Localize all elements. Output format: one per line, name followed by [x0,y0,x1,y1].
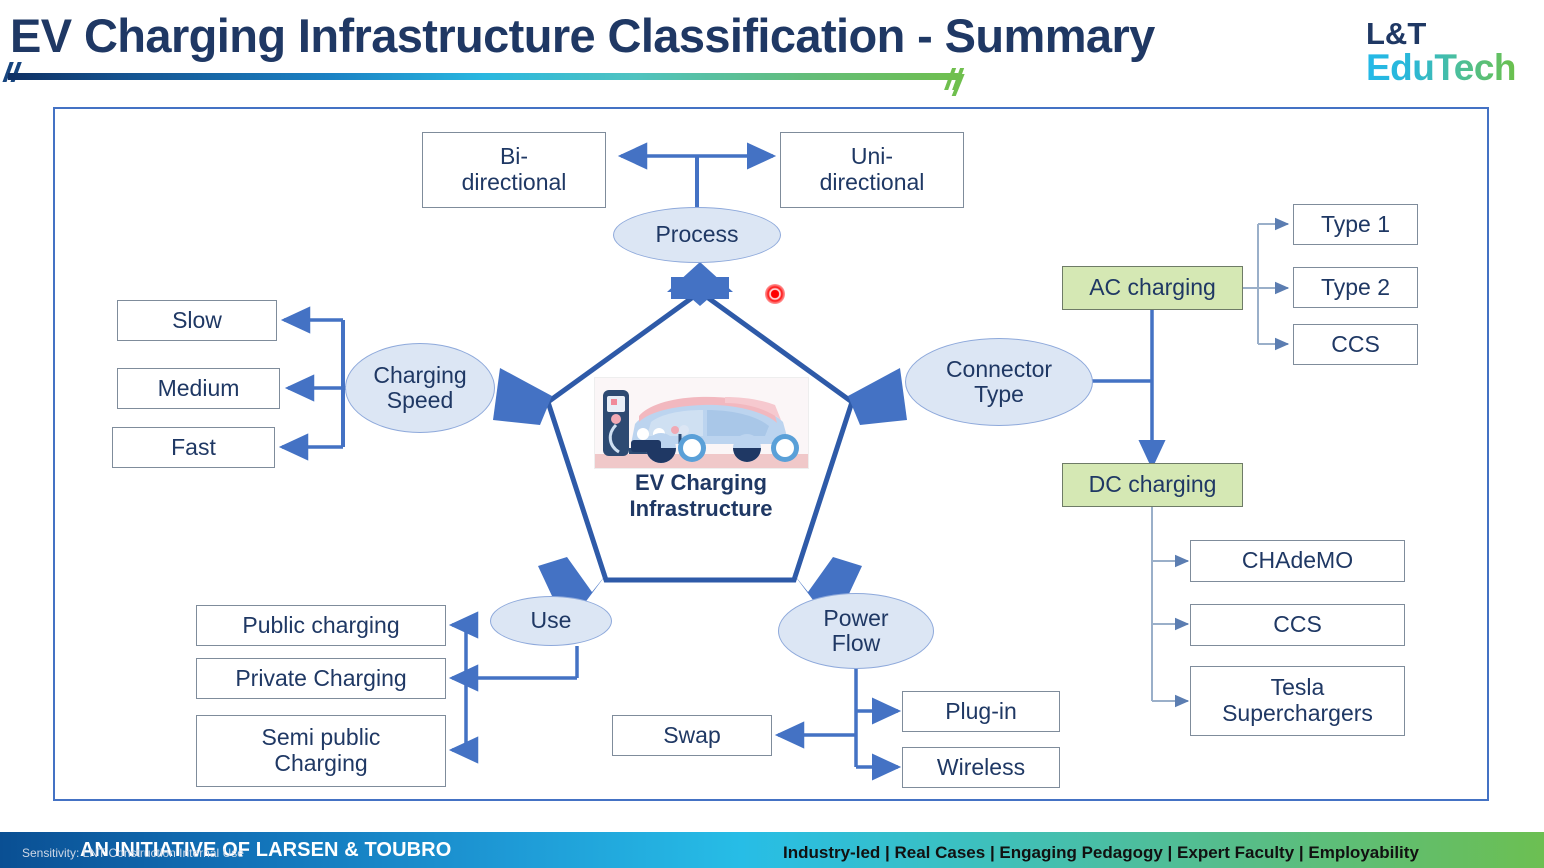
node-public-charging[interactable]: Public charging [196,605,446,646]
hub-power-flow-line1: Power [823,606,888,631]
cursor-pointer-icon [765,284,785,304]
hub-connector-type[interactable]: Connector Type [905,338,1093,426]
node-ac-charging-label: AC charging [1089,275,1216,301]
node-private-charging[interactable]: Private Charging [196,658,446,699]
node-bi-directional-line2: directional [462,170,567,196]
node-tesla-superchargers[interactable]: Tesla Superchargers [1190,666,1405,736]
hub-process-label: Process [655,222,738,247]
slide-canvas: EV Charging Infrastructure Classificatio… [0,0,1544,868]
node-uni-directional-line1: Uni- [851,144,893,170]
node-slow[interactable]: Slow [117,300,277,341]
sensitivity-label: Sensitivity: LNT Construction Internal U… [22,846,244,860]
hub-charging-speed-line1: Charging [373,363,466,388]
node-ccs-dc-label: CCS [1273,612,1322,638]
node-dc-charging-label: DC charging [1089,472,1217,498]
center-node-label: EV Charging Infrastructure [596,470,806,523]
page-title: EV Charging Infrastructure Classificatio… [10,8,1155,63]
hub-charging-speed[interactable]: Charging Speed [345,343,495,433]
node-plug-in[interactable]: Plug-in [902,691,1060,732]
hub-use-label: Use [531,608,572,633]
node-swap-label: Swap [663,723,721,749]
node-ac-charging[interactable]: AC charging [1062,266,1243,310]
node-wireless[interactable]: Wireless [902,747,1060,788]
node-type-1[interactable]: Type 1 [1293,204,1418,245]
node-plug-in-label: Plug-in [945,699,1017,725]
node-bi-directional[interactable]: Bi- directional [422,132,606,208]
hub-process[interactable]: Process [613,207,781,263]
node-swap[interactable]: Swap [612,715,772,756]
node-type-2[interactable]: Type 2 [1293,267,1418,308]
node-semi-public-charging[interactable]: Semi public Charging [196,715,446,787]
node-wireless-label: Wireless [937,755,1025,781]
node-tesla-line2: Superchargers [1222,701,1373,727]
node-tesla-line1: Tesla [1271,675,1325,701]
node-dc-charging[interactable]: DC charging [1062,463,1243,507]
node-medium-label: Medium [158,376,240,402]
node-slow-label: Slow [172,308,222,334]
node-type-1-label: Type 1 [1321,212,1390,238]
lnt-edutech-logo: L&T EduTech [1366,18,1516,86]
footer-tagline-text: Industry-led | Real Cases | Engaging Ped… [783,843,1419,863]
node-type-2-label: Type 2 [1321,275,1390,301]
node-chademo[interactable]: CHAdeMO [1190,540,1405,582]
node-private-charging-label: Private Charging [235,666,406,692]
node-uni-directional[interactable]: Uni- directional [780,132,964,208]
node-medium[interactable]: Medium [117,368,280,409]
node-semi-public-line1: Semi public [262,725,381,751]
center-node-label-line1: EV Charging [596,470,806,496]
node-uni-directional-line2: directional [820,170,925,196]
hub-connector-type-line2: Type [974,382,1024,407]
node-chademo-label: CHAdeMO [1242,548,1353,574]
node-bi-directional-line1: Bi- [500,144,528,170]
node-fast[interactable]: Fast [112,427,275,468]
hub-power-flow[interactable]: Power Flow [778,593,934,669]
title-gradient-rule [8,73,958,80]
hub-power-flow-line2: Flow [832,631,881,656]
node-public-charging-label: Public charging [242,613,399,639]
logo-edutech-text: EduTech [1366,49,1516,86]
hub-use[interactable]: Use [490,596,612,646]
node-ccs-dc[interactable]: CCS [1190,604,1405,646]
node-semi-public-line2: Charging [274,751,367,777]
center-node-label-line2: Infrastructure [596,496,806,522]
hub-connector-type-line1: Connector [946,357,1052,382]
hub-charging-speed-line2: Speed [387,388,454,413]
node-fast-label: Fast [171,435,216,461]
logo-lnt-text: L&T [1366,18,1516,49]
ev-charging-illustration [594,377,809,469]
node-ccs-ac-label: CCS [1331,332,1380,358]
node-ccs-ac[interactable]: CCS [1293,324,1418,365]
